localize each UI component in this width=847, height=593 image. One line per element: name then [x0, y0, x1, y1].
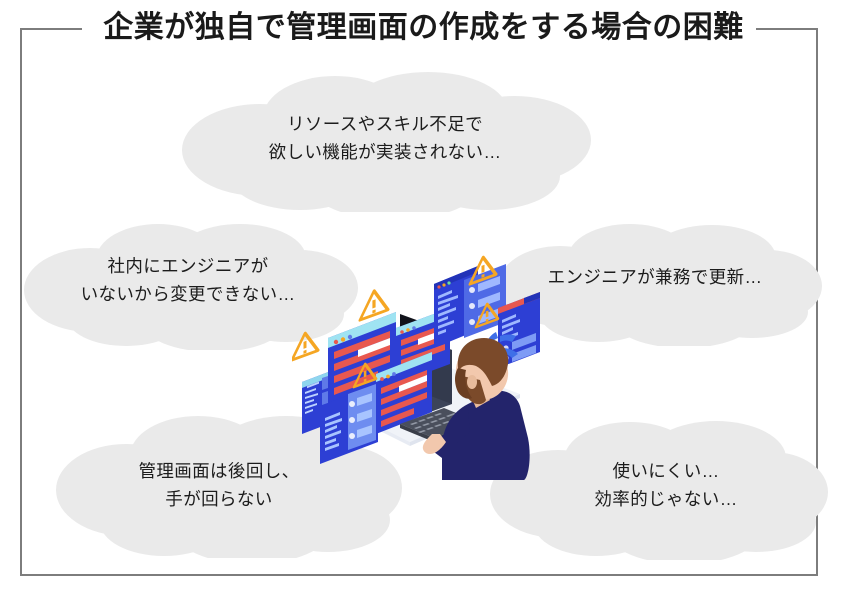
cloud-text-line2: 効率的じゃない…: [594, 485, 737, 513]
cloud-text-line1: 管理画面は後回し、: [138, 457, 299, 485]
cloud-text-line1: エンジニアが兼務で更新…: [548, 263, 763, 291]
warning-triangle-icon: [360, 286, 388, 320]
slide-canvas: 企業が独自で管理画面の作成をする場合の困難 リソースやスキル不足で 欲しい機能が…: [0, 0, 847, 593]
illustration-person-at-desk: [292, 252, 560, 480]
page-title: 企業が独自で管理画面の作成をする場合の困難: [0, 8, 847, 48]
cloud-text-line1: 社内にエンジニアが: [107, 252, 268, 280]
illustration-svg: [292, 252, 560, 480]
frame-border-bottom: [20, 574, 818, 576]
cloud-text-line2: いないから変更できない…: [81, 280, 296, 308]
cloud-text-line1: 使いにくい…: [612, 457, 719, 485]
cloud-bubble-top: リソースやスキル不足で 欲しい機能が実装されない…: [170, 72, 600, 212]
cloud-text-line2: 手が回らない: [165, 485, 272, 513]
cloud-text-line2: 欲しい機能が実装されない…: [269, 138, 502, 166]
warning-triangle-icon: [292, 329, 318, 360]
cloud-text-line1: リソースやスキル不足で: [287, 110, 483, 138]
cloud-text-top: リソースやスキル不足で 欲しい機能が実装されない…: [170, 68, 600, 208]
